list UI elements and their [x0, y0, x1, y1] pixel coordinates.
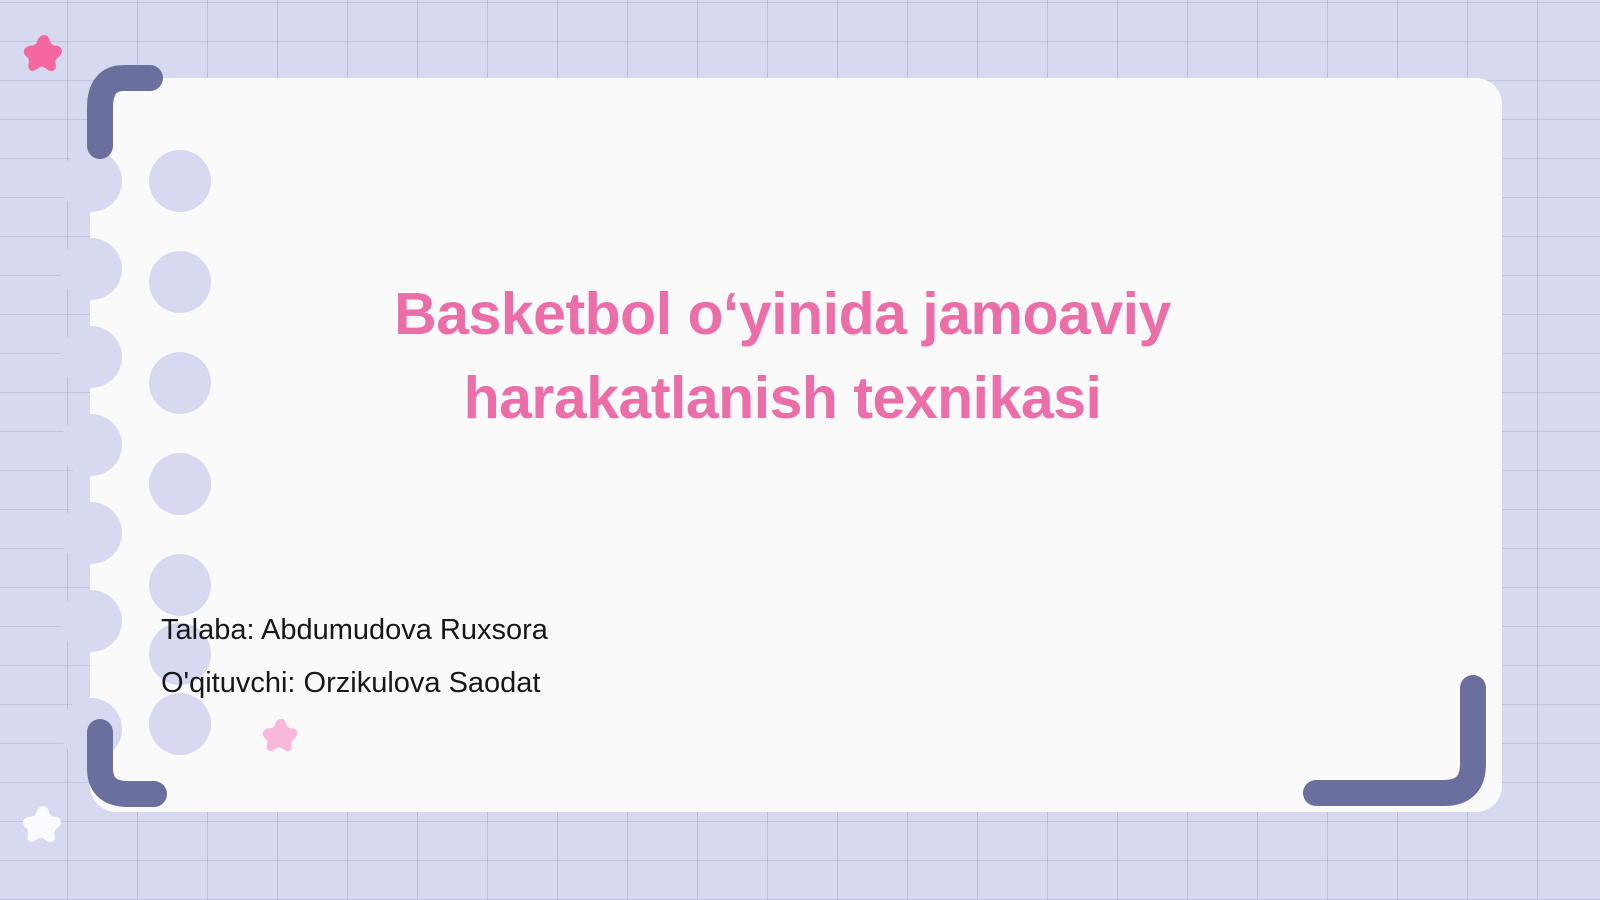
subtitle-line-student: Talaba: Abdumudova Ruxsora — [161, 604, 1061, 657]
scallop-notch — [60, 502, 122, 564]
star-icon — [22, 803, 64, 845]
corner-bracket-top-left — [84, 62, 164, 162]
star-icon — [262, 716, 300, 754]
scallop-notch — [60, 326, 122, 388]
corner-bracket-bottom-left — [84, 718, 174, 818]
scallop-notch — [60, 590, 122, 652]
presentation-slide: Basketbol oʻyinida jamoaviy harakatlanis… — [0, 0, 1600, 900]
scallop-notch — [149, 453, 211, 515]
slide-subtitle-block: Talaba: Abdumudova Ruxsora O'qituvchi: O… — [161, 604, 1061, 710]
scallop-notch — [60, 238, 122, 300]
subtitle-line-teacher: O'qituvchi: Orzikulova Saodat — [161, 657, 1061, 710]
slide-title: Basketbol oʻyinida jamoaviy harakatlanis… — [160, 272, 1405, 440]
star-icon — [23, 32, 65, 74]
scallop-notch — [60, 414, 122, 476]
corner-bracket-bottom-right — [1300, 672, 1490, 817]
